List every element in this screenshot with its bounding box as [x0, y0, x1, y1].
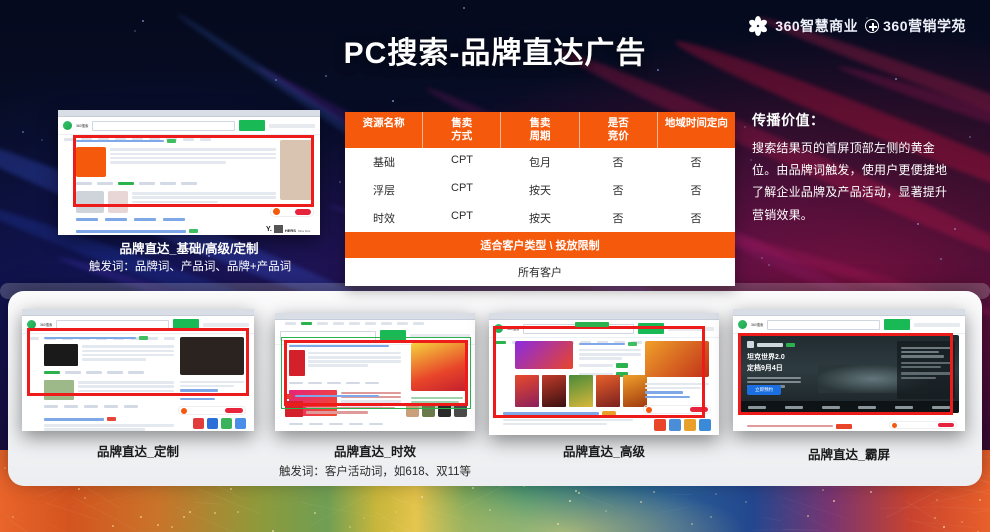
sidebar-product-image: [180, 337, 244, 375]
brand-secondary-label: 360营销学苑: [883, 16, 966, 36]
product-thumb: [108, 191, 128, 213]
table-cell: CPT: [423, 148, 501, 176]
resource-spec-table: 资源名称 售卖方式 售卖周期 是否竞价 地域时间定向 基础 CPT 包月 否 否…: [345, 112, 735, 286]
table-cell: 时效: [345, 204, 423, 232]
sidebar-app-icons: [654, 419, 711, 431]
sidebar-brand-logos: Y. HERS Miss Dior: [266, 225, 316, 233]
top-nav[interactable]: [275, 320, 475, 327]
ad-tag-icon: [189, 229, 198, 233]
search-brand-label: 360搜索: [76, 123, 88, 128]
fullscreen-banner[interactable]: 坦克世界2.0 定档9月4日 立即预约: [739, 335, 959, 413]
browser-titlebar: [733, 309, 965, 316]
search-brand-label: 360搜索: [751, 322, 763, 327]
search-bar[interactable]: 360搜索: [58, 117, 320, 135]
brand-logo-thumb: [76, 147, 106, 177]
sidebar-brand-card[interactable]: [643, 405, 711, 414]
flower-360-icon: [748, 16, 768, 36]
caption-gallery-0: 品牌直达_定制: [22, 441, 254, 460]
toolbar-links: [269, 124, 315, 128]
toolbar-links: [668, 327, 714, 331]
table-cell: 否: [657, 204, 735, 232]
toolbar-links: [410, 334, 470, 338]
search-logo-icon: [738, 320, 747, 329]
caption-gallery-3: 品牌直达_霸屏: [733, 444, 965, 463]
product-thumb: [76, 191, 104, 213]
value-description-block: 传播价值： 搜索结果页的首屏顶部左侧的黄金位。由品牌词触发，使用户更便捷地了解企…: [752, 110, 957, 226]
brand-primary-label: 360智慧商业: [775, 16, 858, 36]
search-input[interactable]: [56, 320, 169, 330]
table-row: 时效 CPT 按天 否 否: [345, 204, 735, 232]
search-button[interactable]: [638, 323, 664, 334]
ad-tag-icon: [139, 336, 148, 340]
sidebar-thumbs: [406, 404, 467, 417]
screenshot-brand-direct-advanced[interactable]: 360搜索: [489, 313, 719, 435]
table-cell: 浮层: [345, 176, 423, 204]
hot-tag-icon: [836, 424, 852, 429]
ad-tag-icon: [628, 342, 637, 346]
trigger-gallery-1: 触发词：客户活动词，如618、双11等: [245, 463, 505, 479]
screenshot-brand-direct-custom[interactable]: 360搜索: [22, 309, 254, 431]
banner-cta-button[interactable]: 立即预约: [747, 385, 781, 395]
screenshot-brand-direct-fullscreen[interactable]: 360搜索 坦克世界2.0 定档9月4日 立即预约: [733, 309, 965, 431]
table-cell: 否: [579, 148, 657, 176]
table-header-cell: 售卖周期: [501, 112, 579, 148]
sidebar-brand-card[interactable]: [270, 206, 314, 217]
table-cell: CPT: [423, 204, 501, 232]
ad-tag-icon: [786, 343, 795, 347]
table-row: 基础 CPT 包月 否 否: [345, 148, 735, 176]
table-cell: 基础: [345, 148, 423, 176]
banner-title: 坦克世界2.0 定档9月4日: [747, 353, 785, 374]
game-ad-image: [515, 341, 573, 369]
screenshot-brand-direct-timed[interactable]: [275, 313, 475, 431]
description-heading: 传播价值：: [752, 110, 957, 130]
table-header-cell: 资源名称: [345, 112, 423, 148]
sidebar-product-image: [280, 140, 312, 200]
browser-titlebar: [58, 110, 320, 117]
promo-banner-image: [411, 343, 467, 391]
table-cell: 否: [579, 204, 657, 232]
caption-top-shot: 品牌直达_基础/高级/定制: [58, 238, 320, 257]
table-header-cell: 是否竞价: [580, 112, 658, 148]
banner-tab-bar[interactable]: [739, 401, 959, 413]
table-cell: 否: [579, 176, 657, 204]
screenshot-brand-direct-basic[interactable]: 360搜索: [58, 110, 320, 235]
search-logo-icon: [63, 121, 72, 130]
download-button-icon[interactable]: [616, 363, 628, 368]
toolbar-links: [914, 323, 960, 327]
table-cell: 否: [657, 148, 735, 176]
search-input[interactable]: [92, 121, 235, 131]
table-header-row: 资源名称 售卖方式 售卖周期 是否竞价 地域时间定向: [345, 112, 735, 148]
search-bar[interactable]: 360搜索: [733, 316, 965, 334]
brand-logo: 360智慧商业 360营销学苑: [748, 16, 966, 36]
product-thumb: [44, 380, 74, 400]
hot-tag-icon: [107, 417, 116, 421]
table-subvalue: 所有客户: [345, 258, 735, 286]
caption-gallery-2: 品牌直达_高级: [489, 441, 719, 460]
search-bar[interactable]: 360搜索: [22, 316, 254, 334]
promo-tag-icon: [602, 411, 616, 416]
search-button[interactable]: [239, 120, 265, 131]
ad-tag-icon: [167, 139, 176, 143]
sidebar-game-banner: [645, 341, 709, 377]
search-input[interactable]: [280, 331, 376, 341]
sidebar-app-icons: [193, 418, 246, 429]
brand-logo-thumb: [44, 344, 78, 366]
caption-gallery-1: 品牌直达_时效: [275, 441, 475, 460]
table-cell: 否: [657, 176, 735, 204]
secondary-result: [285, 393, 395, 417]
description-body: 搜索结果页的首屏顶部左侧的黄金位。由品牌词触发，使用户更便捷地了解企业品牌及产品…: [752, 137, 957, 226]
search-button[interactable]: [884, 319, 910, 330]
table-cell: 按天: [501, 204, 579, 232]
result-main-col: [44, 335, 174, 431]
search-button[interactable]: [173, 319, 199, 330]
browser-titlebar: [489, 313, 719, 320]
plus-circle-icon: [865, 19, 879, 33]
search-input[interactable]: [767, 320, 880, 330]
table-cell: CPT: [423, 176, 501, 204]
search-button-overlay[interactable]: [575, 322, 609, 327]
table-subheader: 适合客户类型 \ 投放限制: [345, 232, 735, 258]
result-main-col: [76, 138, 276, 235]
trigger-top-shot: 触发词：品牌词、产品词、品牌+产品词: [40, 258, 340, 274]
brand-secondary-group: 360营销学苑: [865, 16, 966, 36]
table-header-cell: 售卖方式: [423, 112, 501, 148]
toolbar-links: [203, 323, 249, 327]
table-cell: 按天: [501, 176, 579, 204]
sidebar-brand-card[interactable]: [178, 406, 246, 415]
search-brand-label: 360搜索: [40, 322, 52, 327]
search-button[interactable]: [380, 330, 406, 341]
sidebar-brand-card[interactable]: [889, 421, 957, 429]
search-logo-icon: [27, 320, 36, 329]
table-row: 浮层 CPT 按天 否 否: [345, 176, 735, 204]
brand-logo-thumb: [289, 350, 305, 376]
game-logo-icon: [747, 341, 754, 348]
table-header-cell: 地域时间定向: [658, 112, 735, 148]
table-cell: 包月: [501, 148, 579, 176]
hot-tag-icon: [285, 394, 292, 399]
search-brand-label: 360搜索: [507, 326, 519, 331]
game-thumb-row: [515, 375, 647, 407]
search-logo-icon: [494, 324, 503, 333]
browser-titlebar: [22, 309, 254, 316]
browser-titlebar: [275, 313, 475, 320]
